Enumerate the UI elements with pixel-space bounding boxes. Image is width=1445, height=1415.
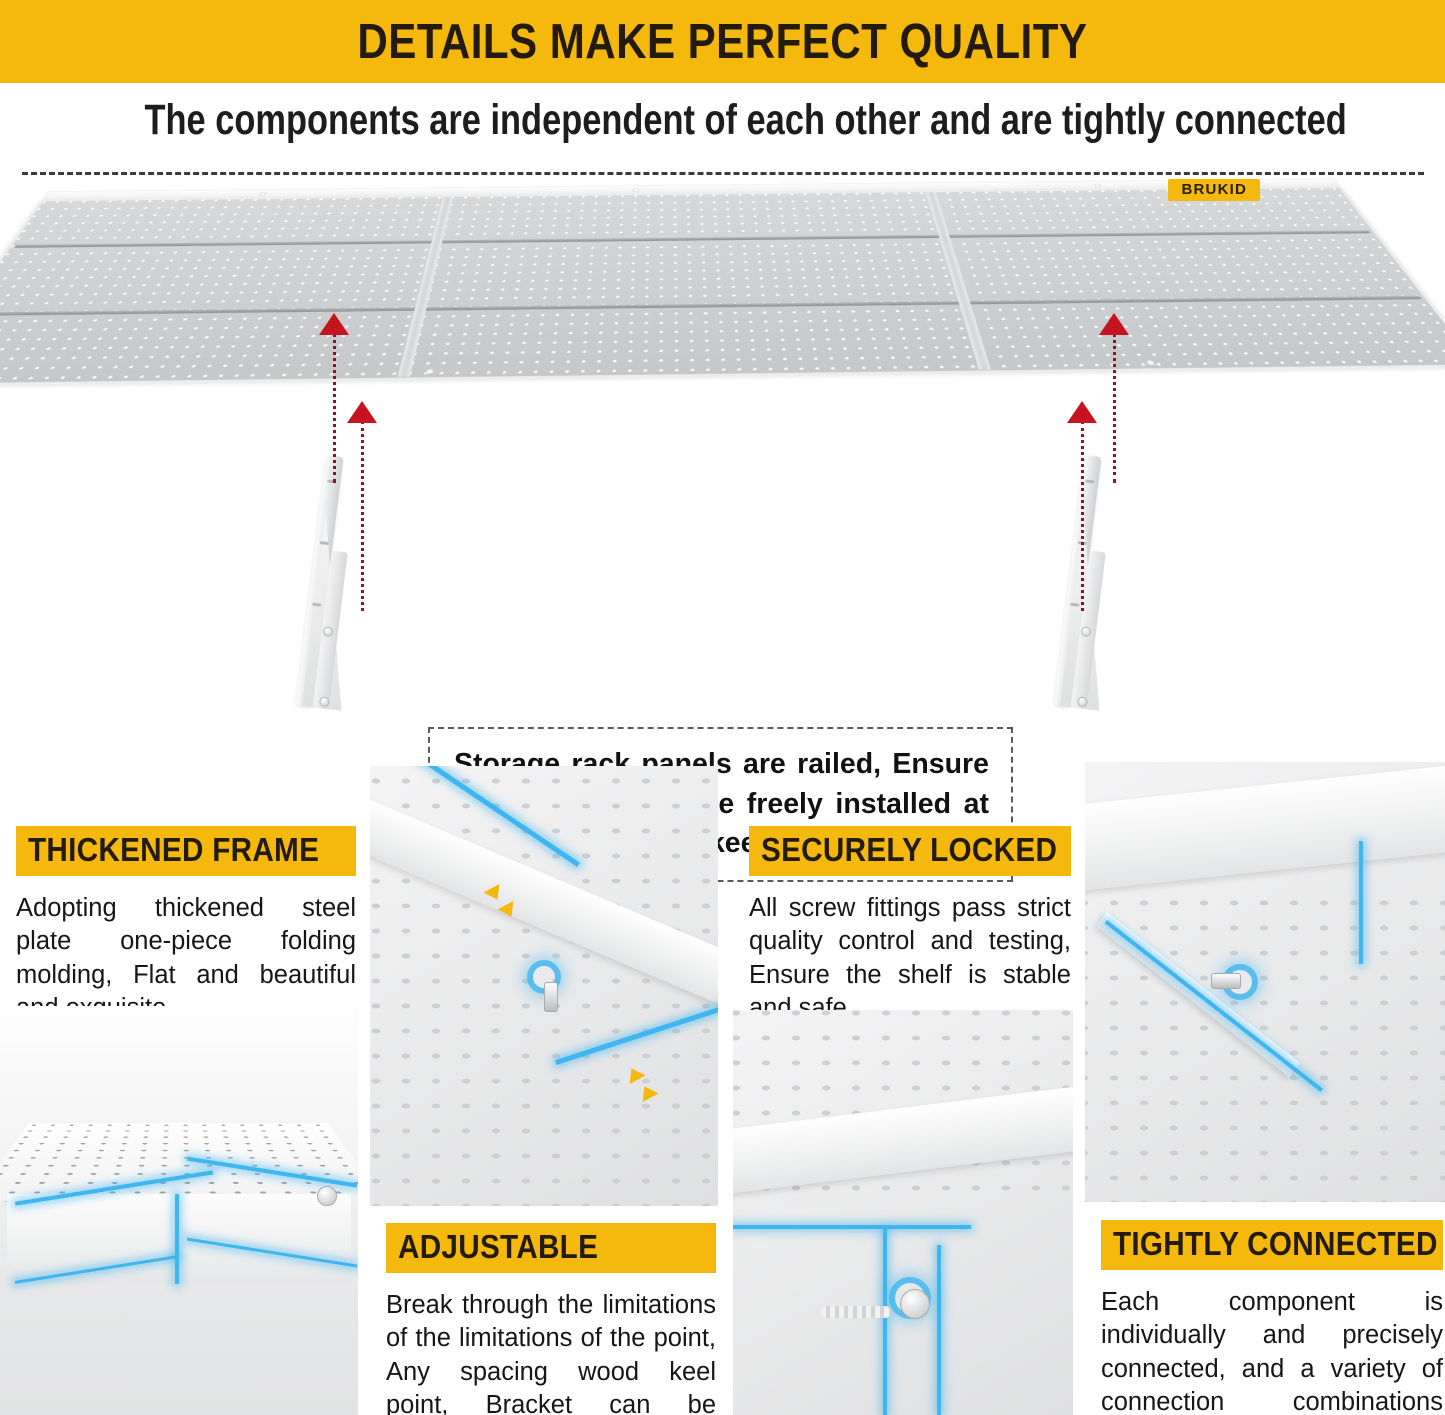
brand-logo-badge: BRUKID	[1168, 179, 1260, 201]
screw-fitting-image	[733, 1010, 1073, 1415]
header-banner: DETAILS MAKE PERFECT QUALITY	[0, 0, 1445, 83]
bolt-icon	[1211, 973, 1241, 989]
cyan-edge-highlight	[1359, 841, 1363, 964]
assembly-arrow-line	[333, 333, 336, 483]
feature-column-tightly-connected: TIGHTLY CONNECTED Each component is indi…	[1085, 748, 1445, 1415]
shelf-panel-assembly: BRUKID	[46, 193, 1346, 493]
adjustable-rail-image	[370, 766, 718, 1206]
bolt-icon	[544, 982, 558, 1012]
feature-body-tightly-connected: Each component is individually and preci…	[1101, 1270, 1443, 1415]
assembly-arrow-head	[1067, 401, 1097, 423]
feature-body-adjustable: Break through the limitations of the lim…	[386, 1273, 716, 1415]
wall-bracket-right	[1042, 454, 1140, 728]
feature-body-securely-locked: All screw fittings pass strict quality c…	[749, 876, 1071, 1026]
cyan-edge-highlight	[883, 1229, 887, 1415]
feature-title-adjustable: ADJUSTABLE	[386, 1223, 716, 1273]
assembly-arrow-head	[347, 401, 377, 423]
assembly-arrow-line	[361, 421, 364, 611]
screw-shaft-icon	[821, 1306, 891, 1318]
cyan-edge-highlight	[937, 1245, 941, 1415]
shelf-panel-face	[0, 186, 1445, 397]
side-hole	[317, 1186, 337, 1206]
feature-column-thickened-frame: THICKENED FRAME Adopting thickened steel…	[0, 748, 358, 1415]
feature-title-tightly-connected: TIGHTLY CONNECTED	[1101, 1220, 1443, 1270]
feature-body-thickened-frame: Adopting thickened steel plate one-piece…	[16, 876, 356, 1026]
header-divider	[22, 172, 1424, 175]
page-subtitle: The components are independent of each o…	[145, 96, 1301, 145]
assembly-arrow-line	[1113, 333, 1116, 483]
cyan-edge-highlight	[733, 1225, 971, 1229]
screw-head-icon	[900, 1289, 930, 1319]
feature-photo-securely-locked	[733, 1010, 1073, 1415]
wall-bracket-left	[284, 454, 382, 728]
perforated-corner-image	[0, 1006, 358, 1415]
front-rail	[1085, 762, 1445, 892]
bracket-bolt-image	[1085, 762, 1445, 1202]
infographic-page: DETAILS MAKE PERFECT QUALITY The compone…	[0, 0, 1445, 1415]
cyan-edge-highlight	[175, 1194, 179, 1284]
hero-diagram: BRUKID	[0, 185, 1445, 745]
perforated-plate	[0, 186, 1445, 386]
feature-grid: THICKENED FRAME Adopting thickened steel…	[0, 748, 1445, 1415]
page-title: DETAILS MAKE PERFECT QUALITY	[357, 14, 1087, 70]
assembly-arrow-line	[1081, 421, 1084, 611]
assembly-arrow-head	[319, 313, 349, 335]
feature-title-thickened-frame: THICKENED FRAME	[16, 826, 356, 876]
perforated-surface	[0, 1123, 358, 1202]
feature-column-securely-locked: SECURELY LOCKED All screw fittings pass …	[733, 748, 1073, 1415]
feature-photo-thickened-frame	[0, 1006, 358, 1415]
feature-photo-adjustable	[370, 766, 718, 1206]
feature-title-securely-locked: SECURELY LOCKED	[749, 826, 1071, 876]
assembly-arrow-head	[1099, 313, 1129, 335]
feature-photo-tightly-connected	[1085, 762, 1445, 1202]
feature-column-adjustable: ADJUSTABLE Break through the limitations…	[370, 748, 718, 1415]
